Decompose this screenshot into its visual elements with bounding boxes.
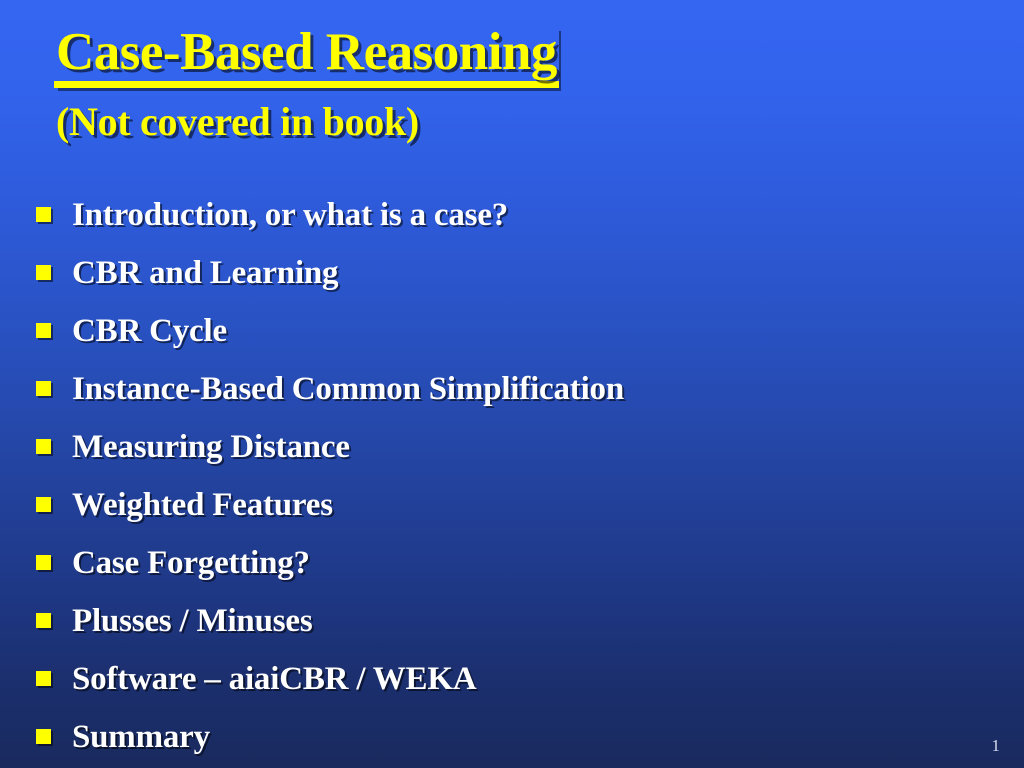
list-item-label: Case Forgetting? [72,547,310,580]
list-item: Case Forgetting? [36,534,996,592]
page-subtitle: (Not covered in book) [56,102,954,142]
square-bullet-icon [36,265,51,280]
square-bullet-icon [36,207,51,222]
list-item: Software – aiaiCBR / WEKA [36,650,996,708]
list-item: CBR and Learning [36,244,996,302]
square-bullet-icon [36,555,51,570]
list-item-label: Introduction, or what is a case? [72,199,508,232]
agenda-bullet-list: Introduction, or what is a case? CBR and… [36,186,996,766]
list-item: Measuring Distance [36,418,996,476]
list-item-label: Weighted Features [72,489,333,522]
square-bullet-icon [36,497,51,512]
list-item: CBR Cycle [36,302,996,360]
square-bullet-icon [36,381,51,396]
list-item-label: CBR Cycle [72,315,227,348]
list-item-label: Software – aiaiCBR / WEKA [72,663,476,696]
list-item-label: Summary [72,721,210,754]
square-bullet-icon [36,671,51,686]
list-item: Weighted Features [36,476,996,534]
square-bullet-icon [36,613,51,628]
page-number: 1 [992,736,1001,756]
list-item: Plusses / Minuses [36,592,996,650]
square-bullet-icon [36,729,51,744]
list-item-label: Plusses / Minuses [72,605,312,638]
square-bullet-icon [36,323,51,338]
page-title: Case-Based Reasoning [54,26,559,88]
presentation-slide: Case-Based Reasoning (Not covered in boo… [0,0,1024,768]
list-item-label: Instance-Based Common Simplification [72,373,624,406]
list-item: Instance-Based Common Simplification [36,360,996,418]
square-bullet-icon [36,439,51,454]
list-item-label: Measuring Distance [72,431,350,464]
list-item: Introduction, or what is a case? [36,186,996,244]
list-item-label: CBR and Learning [72,257,338,290]
title-block: Case-Based Reasoning (Not covered in boo… [54,26,954,142]
list-item: Summary [36,708,996,766]
